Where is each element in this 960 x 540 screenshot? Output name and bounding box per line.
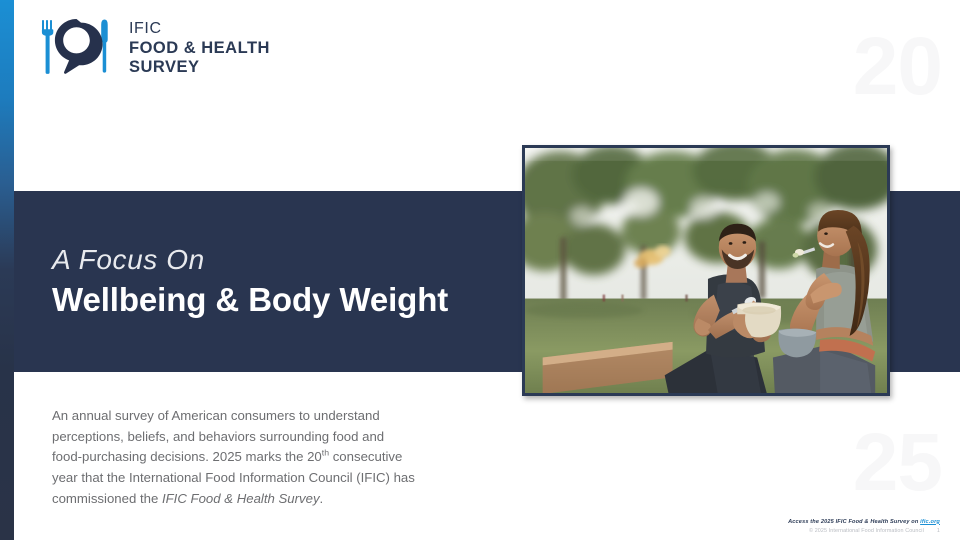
survey-title-italic: IFIC Food & Health Survey [162,491,320,506]
brand-name-line-3: SURVEY [129,58,270,77]
slide-footer: Access the 2025 IFIC Food & Health Surve… [788,518,940,534]
brand-name-line-1: IFIC [129,20,270,39]
fork-plate-knife-speech-bubble-icon [38,16,118,82]
slide-eyebrow: A Focus On [52,243,448,276]
copyright-text: © 2025 International Food Information Co… [809,528,924,534]
left-accent-strip [0,0,14,540]
slide-description: An annual survey of American consumers t… [52,406,417,509]
brand-logo-text: IFIC FOOD & HEALTH SURVEY [129,20,270,78]
slide-title-block: A Focus On Wellbeing & Body Weight [52,243,448,320]
footer-copyright-line: © 2025 International Food Information Co… [788,528,940,534]
page-title: Wellbeing & Body Weight [52,280,448,320]
brand-name-line-2: FOOD & HEALTH [129,39,270,58]
page-number: 1 [937,528,940,534]
footer-access-survey-name: IFIC Food & Health Survey [836,519,910,525]
ordinal-suffix: th [322,448,329,458]
couple-eating-bowls-in-park-photo [522,145,890,396]
footer-access-middle: on [910,519,921,525]
footer-access-line: Access the 2025 IFIC Food & Health Surve… [788,518,940,526]
watermark-year-bottom: 25 [853,422,942,504]
watermark-year-top: 20 [853,26,942,108]
brand-logo: IFIC FOOD & HEALTH SURVEY [38,16,270,82]
ific-org-link[interactable]: ific.org [920,519,940,525]
slide-canvas: 20 25 [0,0,960,540]
description-text: An annual survey of American consumers t… [52,408,415,506]
footer-access-prefix: Access the 2025 [788,519,836,525]
